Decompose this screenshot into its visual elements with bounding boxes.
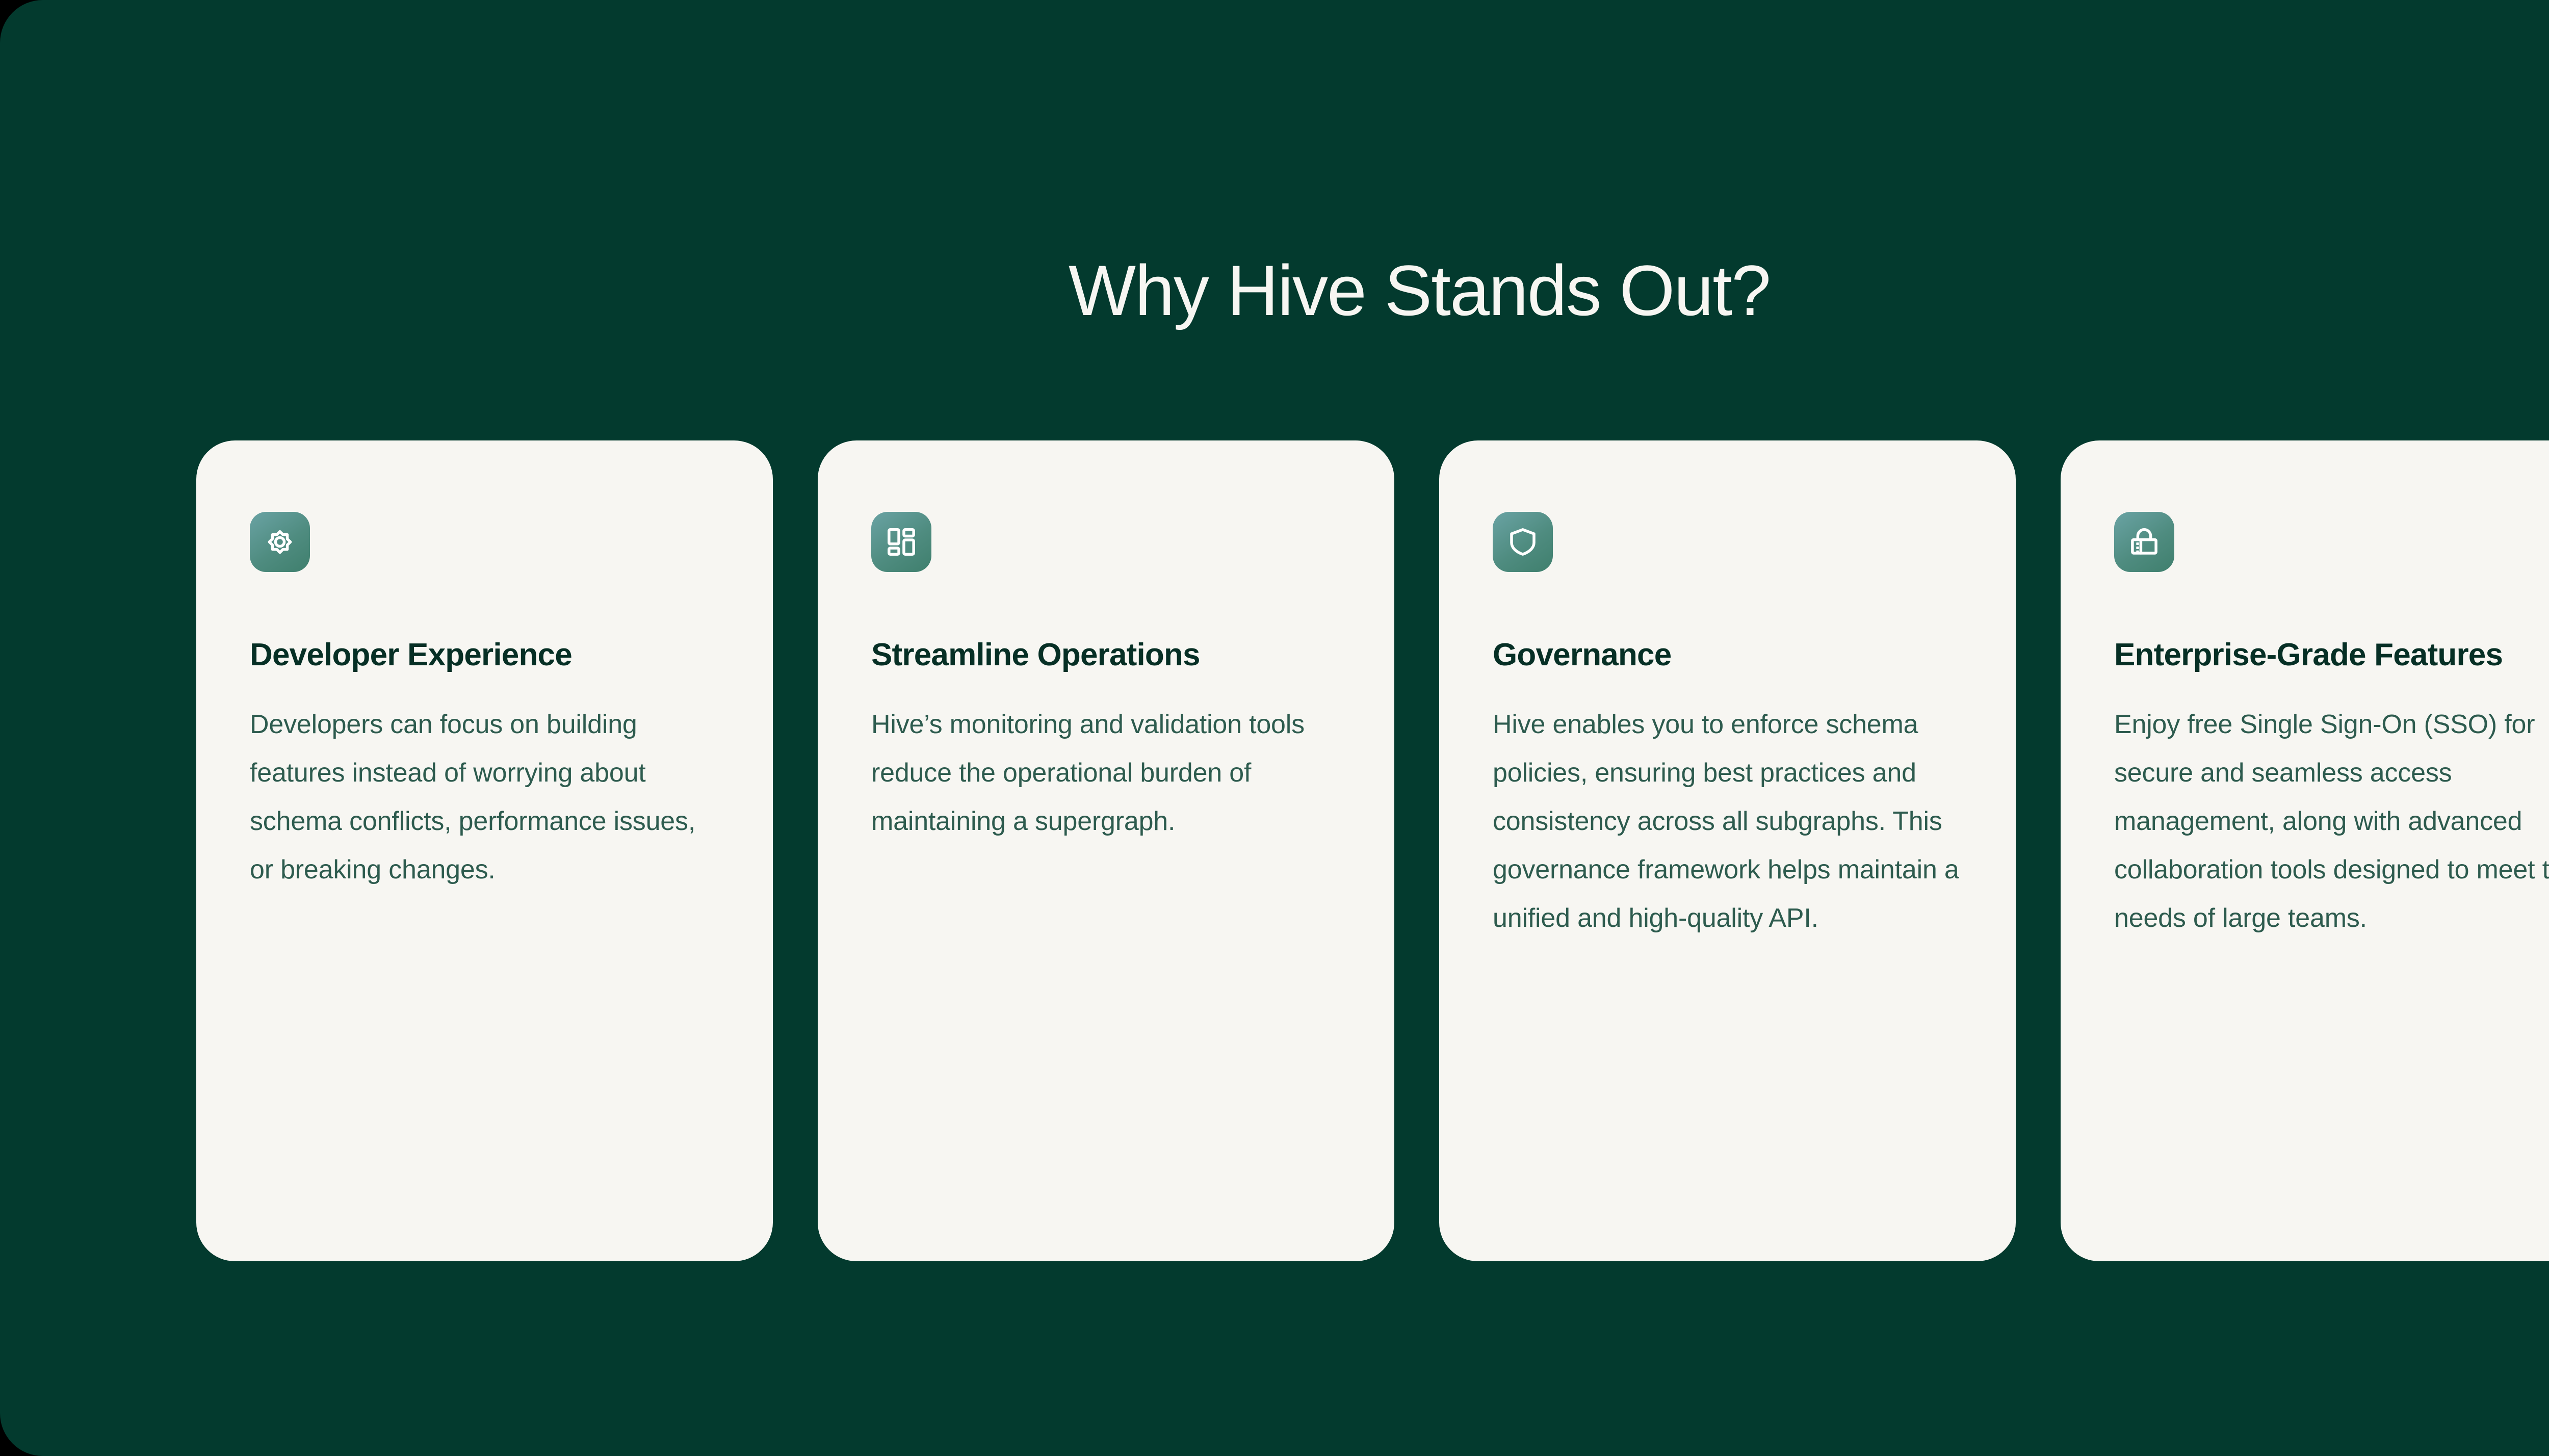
card-body: Enjoy free Single Sign-On (SSO) for secu… bbox=[2114, 700, 2549, 943]
feature-card-developer-experience[interactable]: Developer Experience Developers can focu… bbox=[196, 440, 773, 1261]
lock-icon bbox=[2114, 512, 2174, 572]
shield-icon bbox=[1493, 512, 1553, 572]
card-body: Hive’s monitoring and validation tools r… bbox=[871, 700, 1340, 846]
card-title: Enterprise-Grade Features bbox=[2114, 634, 2549, 676]
feature-card-streamline-operations[interactable]: Streamline Operations Hive’s monitoring … bbox=[818, 440, 1394, 1261]
card-body: Hive enables you to enforce schema polic… bbox=[1493, 700, 1962, 943]
page-root: Why Hive Stands Out? Developer Experienc… bbox=[0, 0, 2549, 1456]
feature-card-governance[interactable]: Governance Hive enables you to enforce s… bbox=[1439, 440, 2016, 1261]
card-title: Streamline Operations bbox=[871, 634, 1330, 676]
page-title: Why Hive Stands Out? bbox=[0, 248, 2549, 333]
dashboard-layout-icon bbox=[871, 512, 931, 572]
feature-card-enterprise-grade-features[interactable]: Enterprise-Grade Features Enjoy free Sin… bbox=[2061, 440, 2549, 1261]
feature-card-grid: Developer Experience Developers can focu… bbox=[196, 440, 2549, 1261]
card-title: Governance bbox=[1493, 634, 1952, 676]
gear-icon bbox=[250, 512, 310, 572]
card-title: Developer Experience bbox=[250, 634, 709, 676]
card-body: Developers can focus on building feature… bbox=[250, 700, 719, 894]
